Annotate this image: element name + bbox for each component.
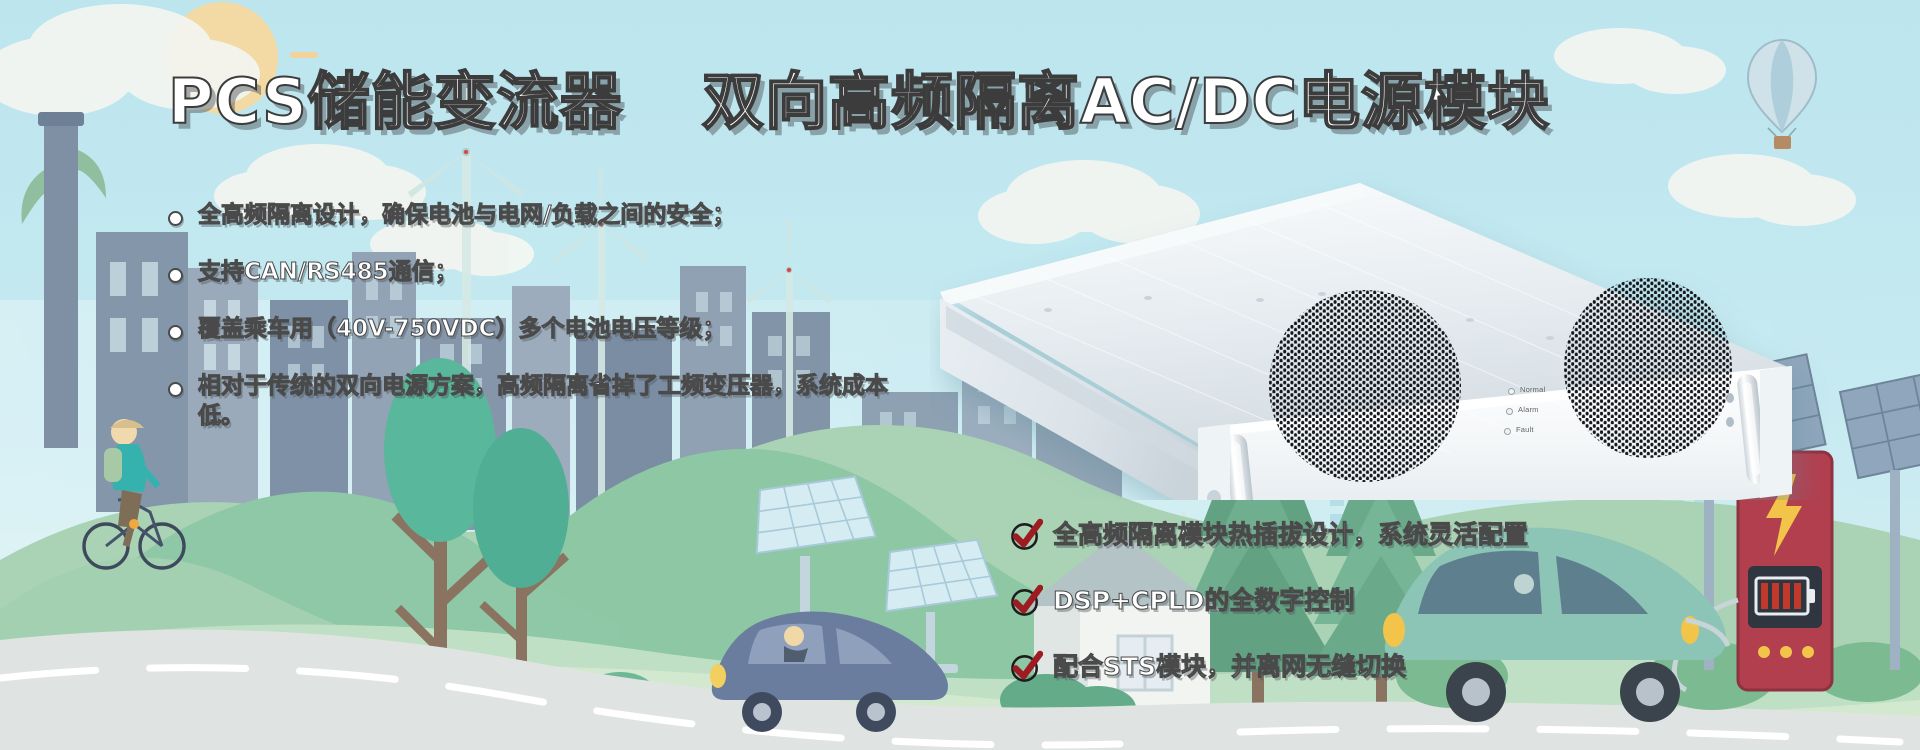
feature-item: 支持CAN/RS485通信；	[168, 257, 928, 287]
bullet-dot-icon	[168, 268, 183, 283]
feature-text: 支持CAN/RS485通信；	[198, 257, 458, 287]
bullet-dot-icon	[168, 325, 183, 340]
bullet-dot-icon	[168, 211, 183, 226]
title-part-2: 双向高频隔离AC/DC电源模块	[702, 65, 1550, 138]
check-text: 全高频隔离模块热插拔设计，系统灵活配置	[1053, 519, 1528, 551]
red-check-circle-icon	[1010, 650, 1043, 683]
check-text: DSP+CPLD的全数字控制	[1053, 585, 1354, 617]
product-device-image: Normal Alarm Fault	[930, 170, 1840, 500]
feature-item: 全高频隔离设计，确保电池与电网/负载之间的安全；	[168, 200, 928, 230]
feature-text: 相对于传统的双向电源方案，高频隔离省掉了工频变压器，系统成本低。	[198, 371, 888, 431]
title-part-1: PCS储能变流器	[168, 65, 623, 138]
feature-item: 覆盖乘车用（40V-750VDC）多个电池电压等级；	[168, 314, 928, 344]
check-text: 配合STS模块，并离网无缝切换	[1053, 651, 1406, 683]
led-label-fault: Fault	[1516, 425, 1534, 434]
product-banner: Normal Alarm Fault PCS储能变流器 双向高频隔离AC/DC电…	[0, 0, 1920, 750]
led-fault	[1504, 428, 1511, 435]
benefit-checklist: 全高频隔离模块热插拔设计，系统灵活配置 DSP+CPLD的全数字控制 配合STS…	[1010, 518, 1710, 716]
check-item: 全高频隔离模块热插拔设计，系统灵活配置	[1010, 518, 1710, 551]
red-check-circle-icon	[1010, 584, 1043, 617]
rack-mount-power-module-illustration	[930, 170, 1840, 500]
feature-text: 覆盖乘车用（40V-750VDC）多个电池电压等级；	[198, 314, 725, 344]
page-title: PCS储能变流器 双向高频隔离AC/DC电源模块	[168, 66, 1550, 138]
led-normal	[1508, 388, 1515, 395]
red-check-circle-icon	[1010, 518, 1043, 551]
led-label-alarm: Alarm	[1518, 405, 1539, 414]
check-item: 配合STS模块，并离网无缝切换	[1010, 650, 1710, 683]
led-alarm	[1506, 408, 1513, 415]
solar-panel-icon	[1840, 361, 1920, 670]
check-item: DSP+CPLD的全数字控制	[1010, 584, 1710, 617]
led-label-normal: Normal	[1520, 385, 1545, 394]
feature-item: 相对于传统的双向电源方案，高频隔离省掉了工频变压器，系统成本低。	[168, 371, 928, 431]
feature-text: 全高频隔离设计，确保电池与电网/负载之间的安全；	[198, 200, 735, 230]
bullet-dot-icon	[168, 382, 183, 397]
feature-list: 全高频隔离设计，确保电池与电网/负载之间的安全； 支持CAN/RS485通信； …	[168, 200, 928, 458]
status-dots	[1758, 646, 1814, 658]
